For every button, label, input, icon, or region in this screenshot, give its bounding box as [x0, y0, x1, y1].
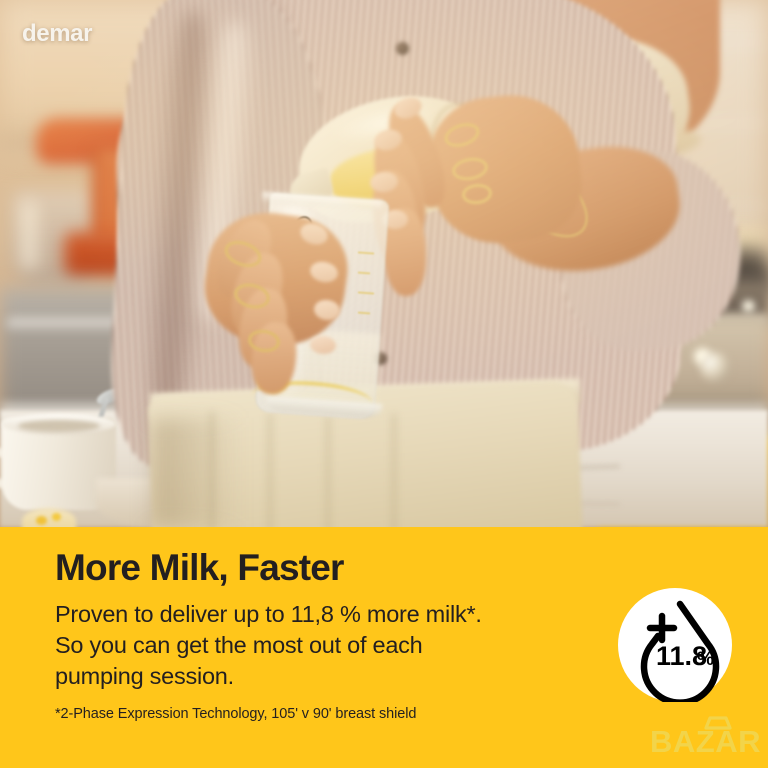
droplet-icon: 11.8 %	[618, 588, 732, 702]
stove-specular-highlight	[742, 300, 755, 312]
badge-unit: %	[697, 649, 714, 670]
mug-interior	[18, 420, 100, 432]
panel-footnote: *2-Phase Expression Technology, 105' v 9…	[55, 706, 416, 722]
lemon-garnish	[22, 508, 76, 527]
page-title: More Milk, Faster	[55, 549, 585, 588]
bazar-wordmark: BAZAR	[650, 724, 761, 759]
plus-sign-icon	[650, 616, 674, 640]
shirt-button	[396, 42, 409, 55]
bazar-watermark: BAZAR	[648, 712, 764, 760]
product-lifestyle-photo: medela	[0, 0, 768, 527]
milk-increase-badge: 11.8 %	[618, 588, 732, 702]
lemon-detail	[36, 516, 47, 525]
trousers-shadow	[152, 418, 242, 527]
trouser-pleat	[392, 414, 396, 527]
trouser-pleat	[268, 414, 272, 527]
brand-logo: demar	[22, 20, 92, 48]
ad-creative: medela demar More Milk, Faster Proven to…	[0, 0, 768, 768]
bazar-logo-icon: BAZAR	[648, 712, 764, 760]
panel-subcopy: Proven to deliver up to 11,8 % more milk…	[55, 599, 585, 693]
trouser-pleat	[326, 416, 330, 527]
stand-mixer-bowl-highlight	[20, 200, 38, 270]
panel-copy-block: More Milk, Faster Proven to deliver up t…	[55, 549, 585, 693]
lemon-detail	[52, 513, 61, 521]
stove-knob	[700, 352, 730, 382]
